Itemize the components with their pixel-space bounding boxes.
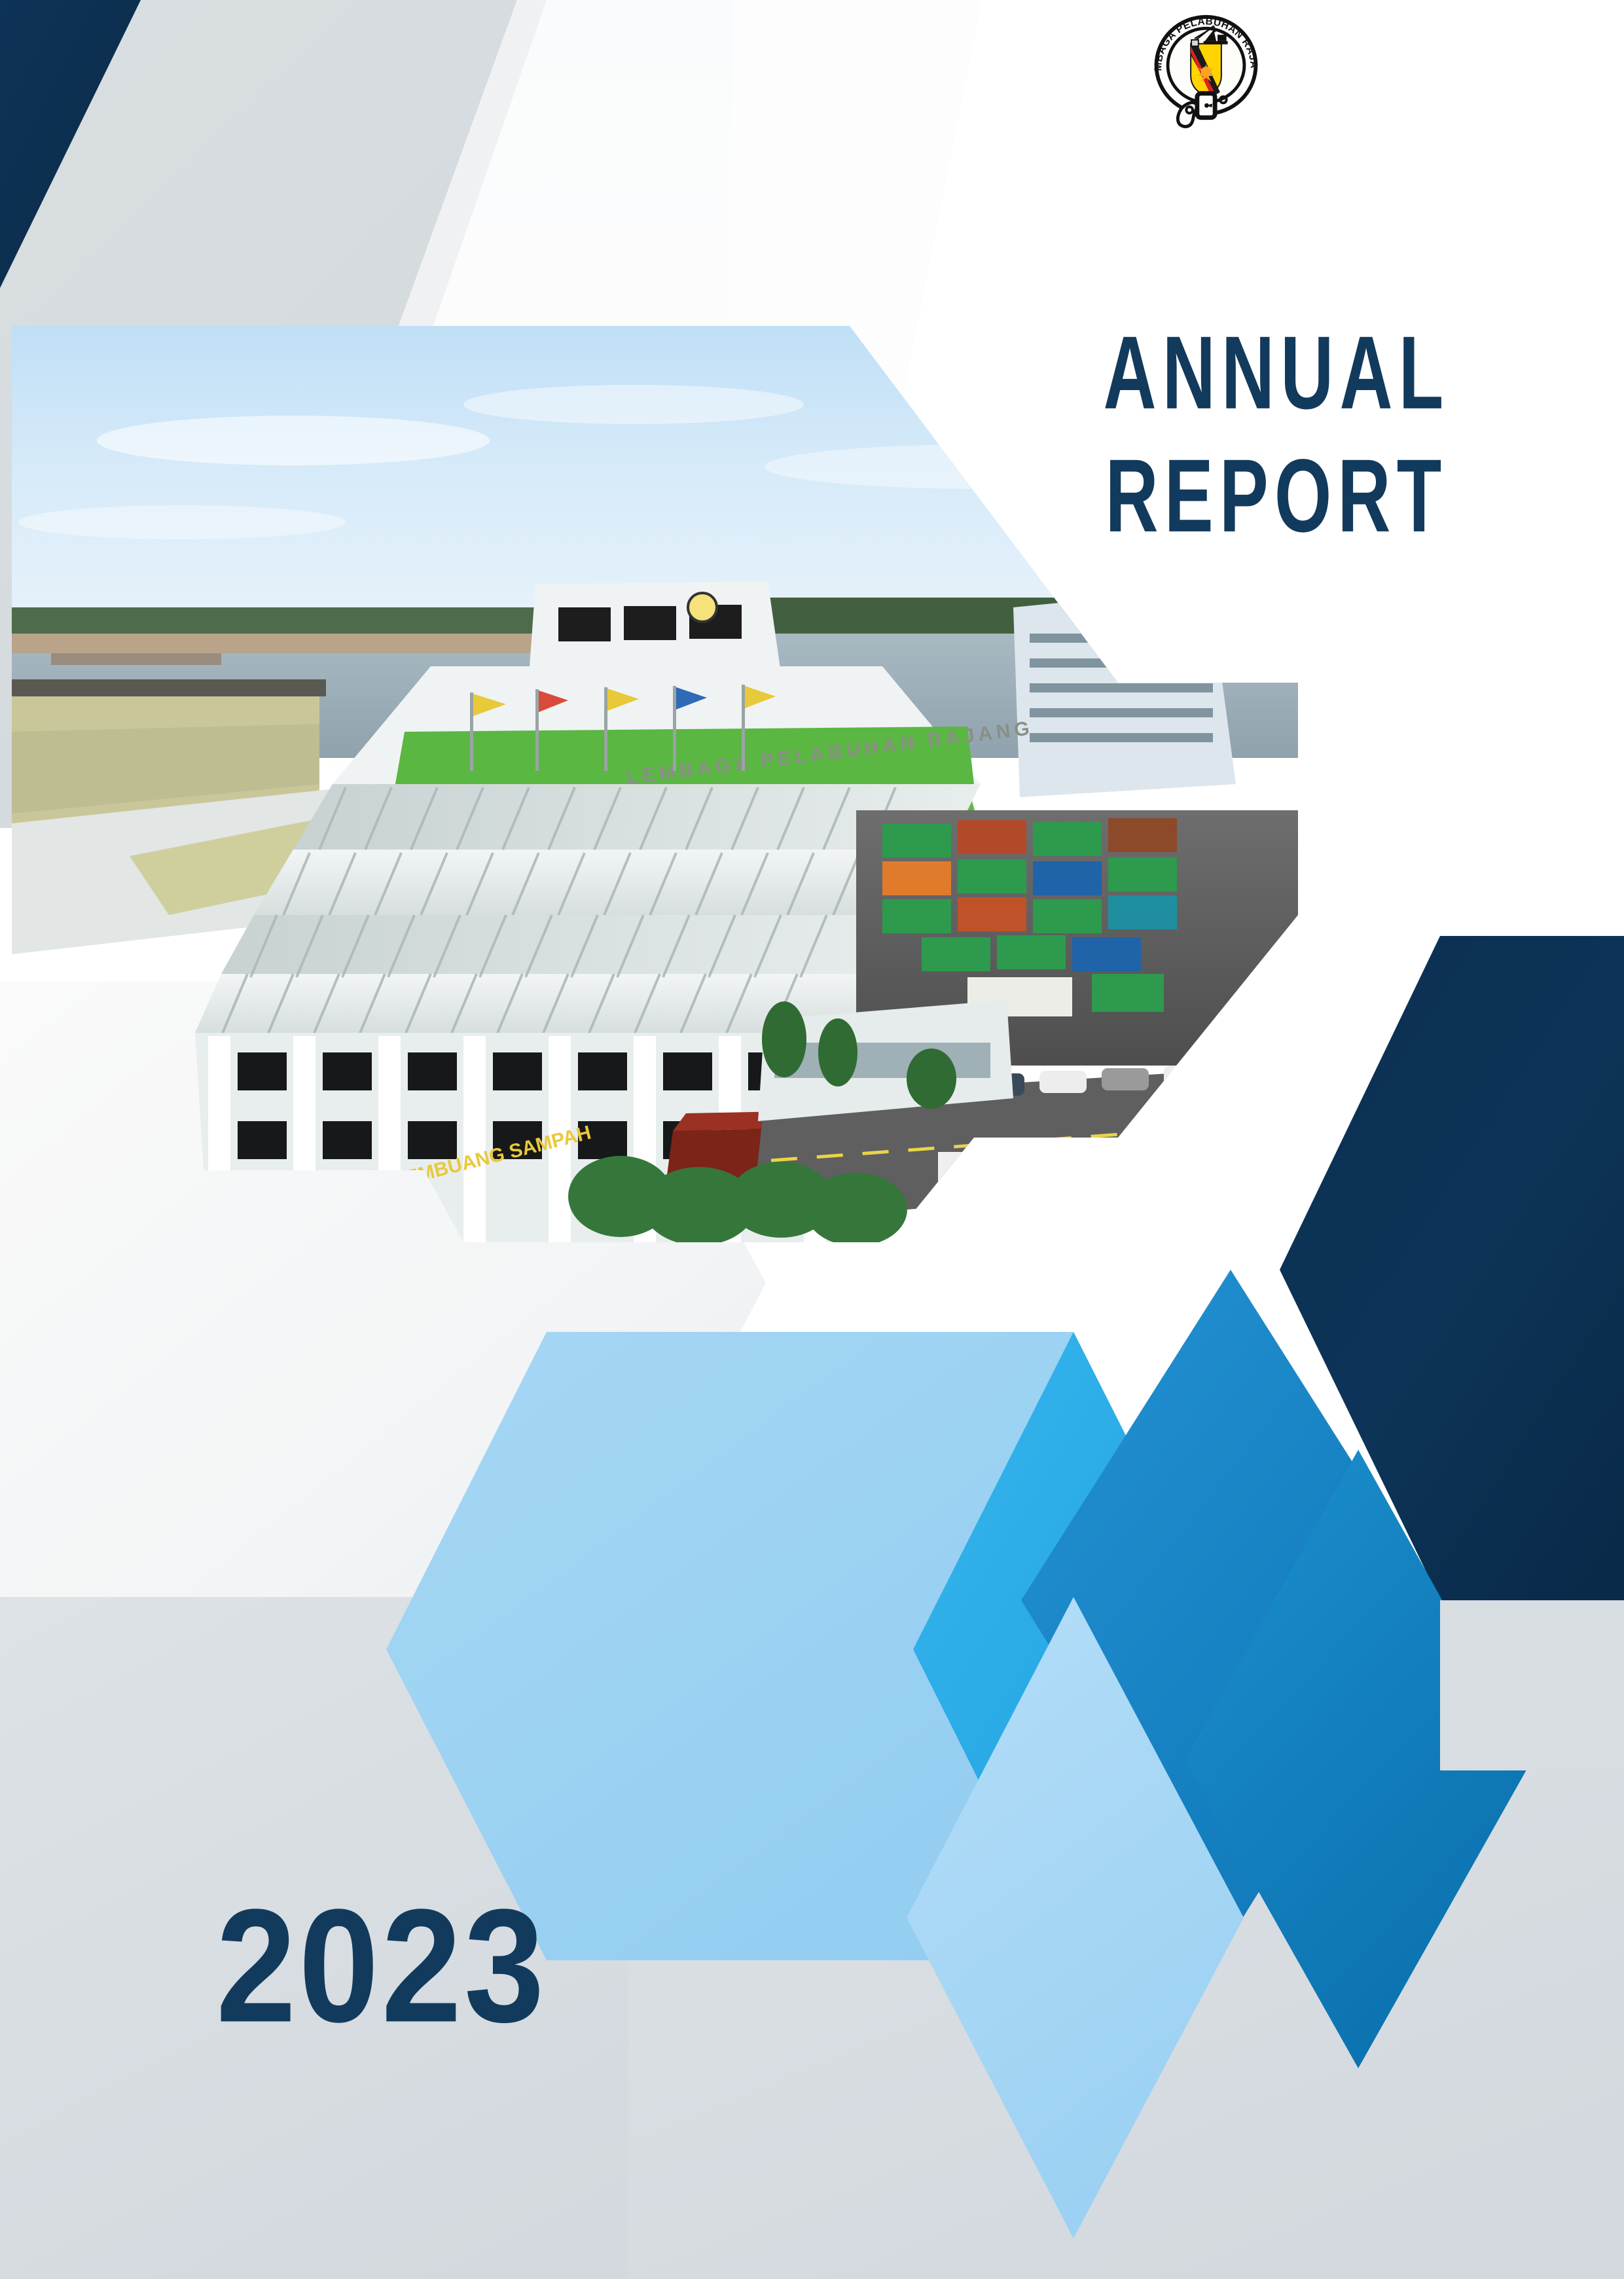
lembaga-pelabuhan-rajang-logo: LEMBAGA PELABUHAN RAJANG [1142,13,1270,134]
title-line-report: REPORT [1017,444,1535,548]
annual-report-cover-page: LEMBAGA PELABUHAN RAJANG [0,0,1624,2279]
grey-filler-right [1440,1600,1624,1770]
container-label: SINOKOR [1072,1164,1174,1184]
cover-title-block: ANNUAL REPORT [995,321,1558,524]
cover-year: 2023 [216,1885,547,2046]
title-line-annual: ANNUAL [1017,321,1535,425]
